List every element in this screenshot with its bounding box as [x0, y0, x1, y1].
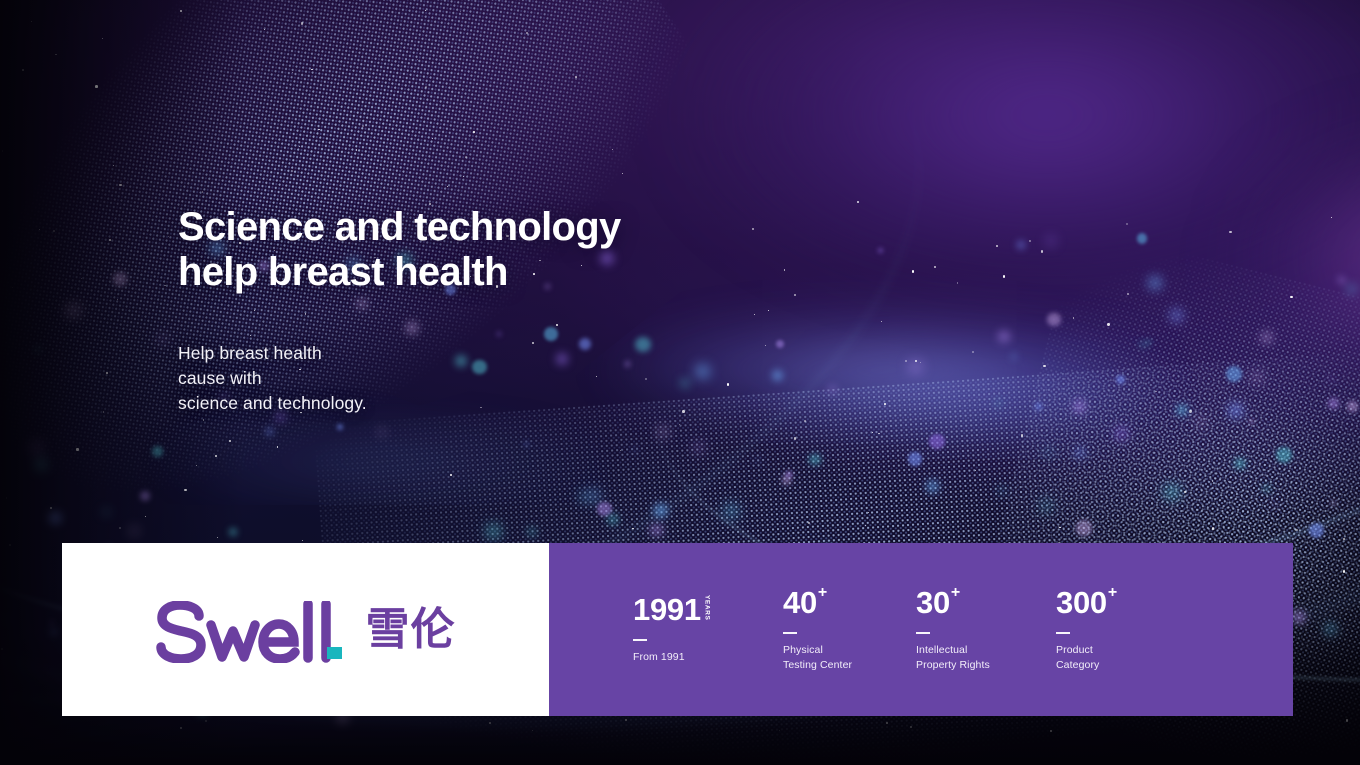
page-subtitle: Help breast health cause with science an…: [178, 341, 798, 417]
stat-label-line-2: Testing Center: [783, 658, 916, 673]
stat-value: 1991: [633, 594, 701, 625]
page-title: Science and technology help breast healt…: [178, 205, 798, 295]
stat-label: From 1991: [633, 650, 783, 665]
subtitle-line-3: science and technology.: [178, 391, 798, 416]
stat-value-row: 30 +: [916, 587, 1056, 618]
stat-item: 30 + Intellectual Property Rights: [916, 587, 1056, 673]
stat-label: Intellectual Property Rights: [916, 643, 1056, 673]
stat-label-line-1: From 1991: [633, 650, 783, 665]
stat-divider: [633, 639, 647, 641]
stat-superscript: +: [1108, 585, 1117, 601]
stat-divider: [783, 632, 797, 634]
stat-item: 300 + Product Category: [1056, 587, 1189, 673]
stat-label-line-2: Category: [1056, 658, 1189, 673]
title-line-2: help breast health: [178, 250, 798, 295]
stat-value-row: 1991 YEARS: [633, 594, 783, 625]
stat-label-line-1: Intellectual: [916, 643, 1056, 658]
stat-label: Product Category: [1056, 643, 1189, 673]
brand-chinese-name: 雪伦: [366, 608, 456, 652]
subtitle-line-2: cause with: [178, 366, 798, 391]
stats-panel: 1991 YEARS From 1991 40 + Physical Testi…: [549, 543, 1293, 716]
stat-vertical-tag: YEARS: [703, 595, 710, 620]
hero-copy: Science and technology help breast healt…: [178, 205, 798, 417]
teal-accent-shape: [327, 647, 342, 659]
stat-superscript: +: [818, 585, 827, 601]
stat-label: Physical Testing Center: [783, 643, 916, 673]
brand-logo[interactable]: 雪伦: [156, 601, 456, 663]
bottom-bar: 雪伦 1991 YEARS From 1991 40 +: [62, 543, 1293, 716]
hero-slide: Science and technology help breast healt…: [0, 0, 1360, 765]
stat-label-line-2: Property Rights: [916, 658, 1056, 673]
stat-value: 40: [783, 587, 817, 618]
stat-label-line-1: Physical: [783, 643, 916, 658]
stat-superscript: +: [951, 585, 960, 601]
stat-label-line-1: Product: [1056, 643, 1189, 658]
stat-item: 1991 YEARS From 1991: [633, 594, 783, 665]
swell-wordmark-icon: [156, 601, 352, 663]
title-line-1: Science and technology: [178, 205, 798, 250]
stat-value-row: 300 +: [1056, 587, 1189, 618]
stat-value: 300: [1056, 587, 1107, 618]
stat-value: 30: [916, 587, 950, 618]
logo-panel: 雪伦: [62, 543, 549, 716]
stat-item: 40 + Physical Testing Center: [783, 587, 916, 673]
stat-divider: [1056, 632, 1070, 634]
subtitle-line-1: Help breast health: [178, 341, 798, 366]
stat-divider: [916, 632, 930, 634]
stat-value-row: 40 +: [783, 587, 916, 618]
